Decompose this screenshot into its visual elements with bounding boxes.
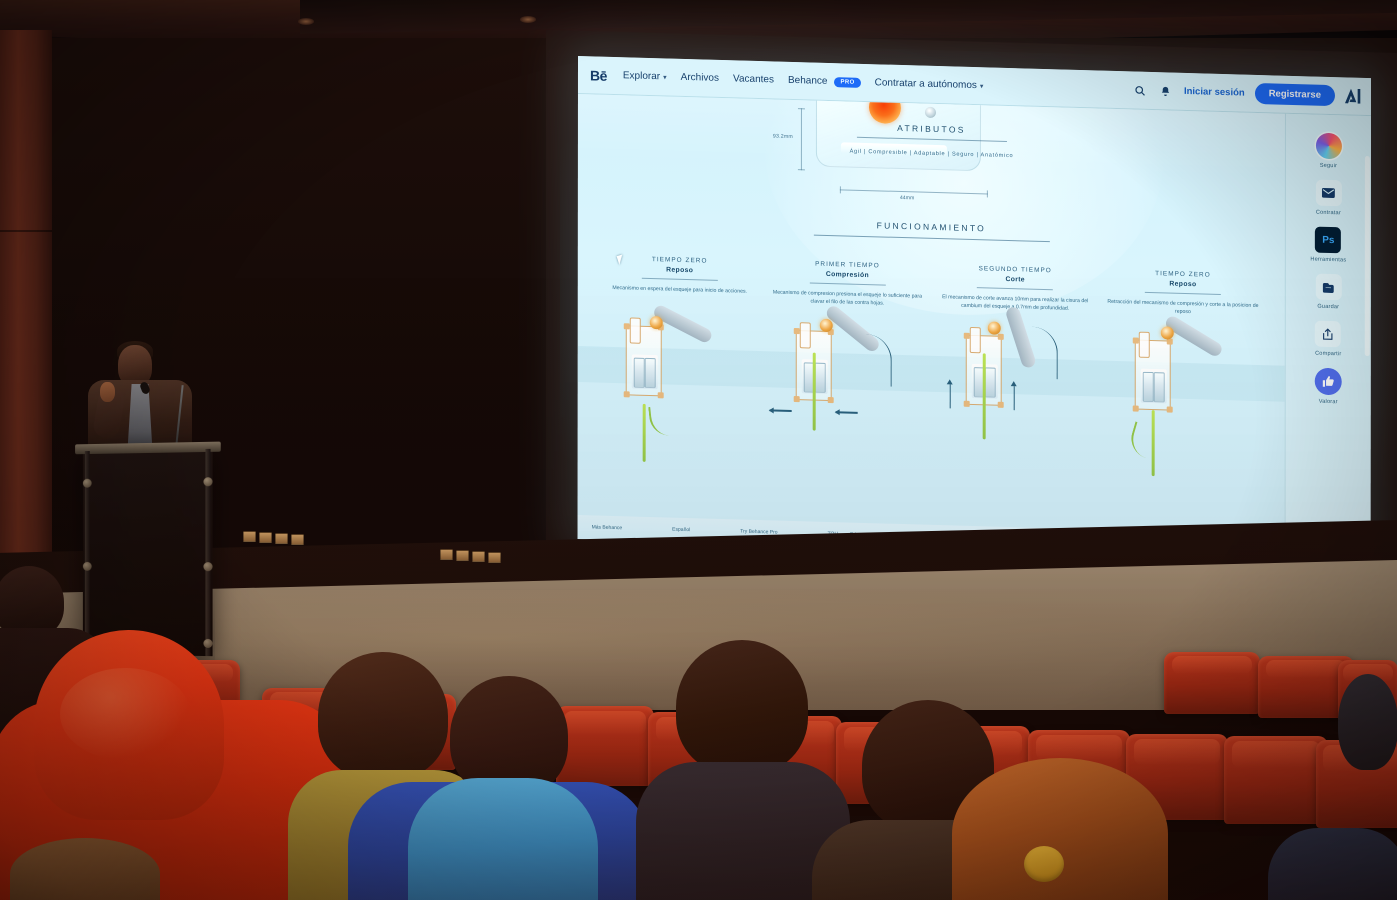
- cut-arrow-up-right: [1013, 386, 1015, 410]
- audience-head: [10, 838, 160, 900]
- mechanism-slot: [969, 327, 980, 353]
- mechanism-slot: [800, 322, 811, 348]
- compression-arrow-left: [769, 409, 791, 411]
- rail-label: Valorar: [1319, 399, 1338, 406]
- rail-label: Guardar: [1317, 304, 1339, 311]
- podium-fitting: [203, 562, 212, 571]
- photoshop-icon: Ps: [1315, 227, 1341, 254]
- bell-icon[interactable]: [1158, 83, 1174, 99]
- footer-link-mas-behance[interactable]: Más Behance: [592, 524, 623, 531]
- podium-fitting: [83, 562, 92, 571]
- pro-badge: PRO: [834, 77, 860, 88]
- audience-head: [318, 652, 448, 780]
- sign-up-button[interactable]: Registrarse: [1255, 83, 1335, 106]
- audience-head-ponytail: [952, 758, 1168, 900]
- rail-item-guardar[interactable]: Guardar: [1315, 274, 1341, 311]
- podium-top-surface: [75, 442, 221, 455]
- step-name: Compresión: [771, 269, 925, 280]
- plant-stem: [643, 404, 646, 462]
- plant-stem: [812, 353, 815, 431]
- wall-outlet: [488, 552, 501, 563]
- auditorium-scene: Bē Explorar ▾ Archivos Vacantes Behance …: [0, 0, 1397, 900]
- step-kicker: TIEMPO ZERO: [603, 255, 757, 266]
- mechanism-pivot: [820, 319, 833, 332]
- rail-item-contratar[interactable]: Contratar: [1315, 180, 1341, 217]
- podium: [83, 449, 213, 656]
- wall-wood-panel-left: [0, 30, 52, 590]
- step-divider: [1145, 292, 1221, 295]
- project-content: 93.2mm 44mm ATRIBUTOS Ágil | Compresible…: [578, 94, 1285, 559]
- vertical-scrollbar[interactable]: [1365, 156, 1370, 356]
- dimension-label-width: 44mm: [900, 195, 914, 201]
- wall-outlet: [275, 533, 288, 544]
- chevron-down-icon: ▾: [663, 73, 667, 81]
- nav-label: Archivos: [681, 72, 719, 84]
- mechanism-diagram-compresion: [761, 313, 931, 518]
- step-column: SEGUNDO TIEMPO Corte El mecanismo de cor…: [931, 264, 1099, 314]
- nav-item-explorar[interactable]: Explorar ▾: [623, 70, 667, 82]
- motion-curve: [865, 334, 891, 387]
- page-body: 93.2mm 44mm ATRIBUTOS Ágil | Compresible…: [578, 94, 1371, 561]
- podium-fitting: [203, 477, 212, 486]
- plant-leaf: [1127, 421, 1155, 458]
- nav-label: Vacantes: [733, 73, 774, 85]
- rail-label: Contratar: [1316, 210, 1341, 217]
- envelope-icon: [1315, 180, 1341, 207]
- share-upload-icon: [1315, 321, 1341, 348]
- ceiling-light: [298, 18, 314, 25]
- adobe-logo[interactable]: [1344, 88, 1361, 104]
- rail-item-seguir[interactable]: Seguir: [1315, 133, 1341, 170]
- sign-in-link[interactable]: Iniciar sesión: [1184, 86, 1245, 99]
- wall-outlet: [291, 534, 304, 545]
- rail-label: Seguir: [1320, 163, 1337, 169]
- step-divider: [809, 282, 885, 285]
- profile-avatar-icon: [1315, 133, 1341, 160]
- product-screw: [925, 107, 936, 118]
- mechanism-diagram-reposo-final: [1101, 323, 1271, 528]
- mechanism-illustrations: [578, 308, 1285, 528]
- mechanism-diagram-corte: [931, 318, 1101, 523]
- step-description: Mecanismo de compresion presiona el esqu…: [771, 288, 925, 308]
- wall-outlet: [472, 551, 485, 562]
- step-divider: [977, 287, 1053, 290]
- step-column: TIEMPO ZERO Reposo Retracción del mecani…: [1099, 269, 1267, 319]
- chevron-down-icon: ▾: [980, 82, 984, 90]
- speaker-hand: [100, 382, 115, 402]
- wall-outlet: [259, 532, 272, 543]
- rail-item-compartir[interactable]: Compartir: [1315, 321, 1341, 358]
- theater-seat: [556, 706, 654, 786]
- podium-fitting: [83, 479, 92, 488]
- audience-head: [1338, 674, 1397, 770]
- motion-curve: [1031, 327, 1057, 380]
- compression-arrow-right: [835, 411, 857, 413]
- rail-item-herramientas[interactable]: Ps Herramientas: [1310, 226, 1346, 263]
- podium-fitting: [203, 639, 212, 648]
- mechanism-blades: [632, 355, 658, 390]
- step-name: Corte: [938, 274, 1092, 285]
- nav-spacer: [997, 86, 1132, 90]
- projected-browser-page[interactable]: Bē Explorar ▾ Archivos Vacantes Behance …: [578, 56, 1371, 561]
- hood-fold-highlight: [60, 668, 190, 760]
- plant-stem: [982, 353, 985, 439]
- section-divider: [856, 137, 1006, 142]
- wall-outlet: [456, 550, 469, 561]
- mechanism-pivot: [987, 321, 1000, 334]
- nav-item-contratar-autonomos[interactable]: Contratar a autónomos ▾: [875, 77, 984, 91]
- thumbs-up-icon: [1315, 368, 1342, 396]
- nav-item-archivos[interactable]: Archivos: [681, 72, 719, 84]
- hair-tie: [1024, 846, 1064, 882]
- theater-seat: [1164, 652, 1260, 714]
- wall-outlet: [440, 549, 453, 560]
- step-description: Retracción del mecanismo de compresión y…: [1106, 298, 1260, 318]
- nav-label: Explorar: [623, 70, 660, 82]
- cut-arrow-up-left: [949, 384, 951, 408]
- hood-lining-light-blue: [408, 778, 598, 900]
- mechanism-slot: [1139, 332, 1150, 358]
- step-kicker: TIEMPO ZERO: [1106, 269, 1260, 280]
- project-action-rail: Seguir Contratar Ps Herramientas: [1285, 114, 1371, 561]
- mechanism-slot: [630, 317, 641, 343]
- rail-label: Herramientas: [1310, 256, 1346, 263]
- mechanism-pivot: [650, 316, 663, 329]
- search-icon[interactable]: [1132, 82, 1148, 98]
- step-description: Mecanismo en espera del esqueje para ini…: [603, 284, 757, 296]
- ceiling-light: [520, 16, 536, 23]
- rail-item-valorar[interactable]: Valorar: [1315, 368, 1342, 406]
- step-divider: [642, 278, 718, 281]
- nav-label: Contratar a autónomos: [875, 77, 977, 91]
- audience-head: [676, 640, 808, 774]
- nav-item-vacantes[interactable]: Vacantes: [733, 73, 774, 85]
- plant-leaf: [648, 406, 671, 437]
- mechanism-blades: [1141, 369, 1167, 404]
- theater-seat: [1224, 736, 1328, 824]
- footer-link-espanol[interactable]: Español: [672, 527, 690, 534]
- plant-stem: [1152, 410, 1155, 476]
- nav-label: Behance: [788, 75, 827, 87]
- step-column: TIEMPO ZERO Reposo Mecanismo en espera d…: [596, 254, 764, 304]
- nav-item-behance-pro[interactable]: Behance PRO: [788, 75, 861, 88]
- step-column: PRIMER TIEMPO Compresión Mecanismo de co…: [764, 259, 932, 309]
- step-name: Reposo: [1106, 279, 1260, 290]
- step-name: Reposo: [603, 265, 757, 276]
- wall-outlet: [243, 531, 256, 542]
- audience-body: [1268, 828, 1397, 900]
- bookmark-icon: [1315, 274, 1341, 301]
- mechanism-diagram-reposo: [592, 308, 762, 513]
- rail-label: Compartir: [1315, 351, 1341, 358]
- behance-logo[interactable]: Bē: [590, 67, 607, 83]
